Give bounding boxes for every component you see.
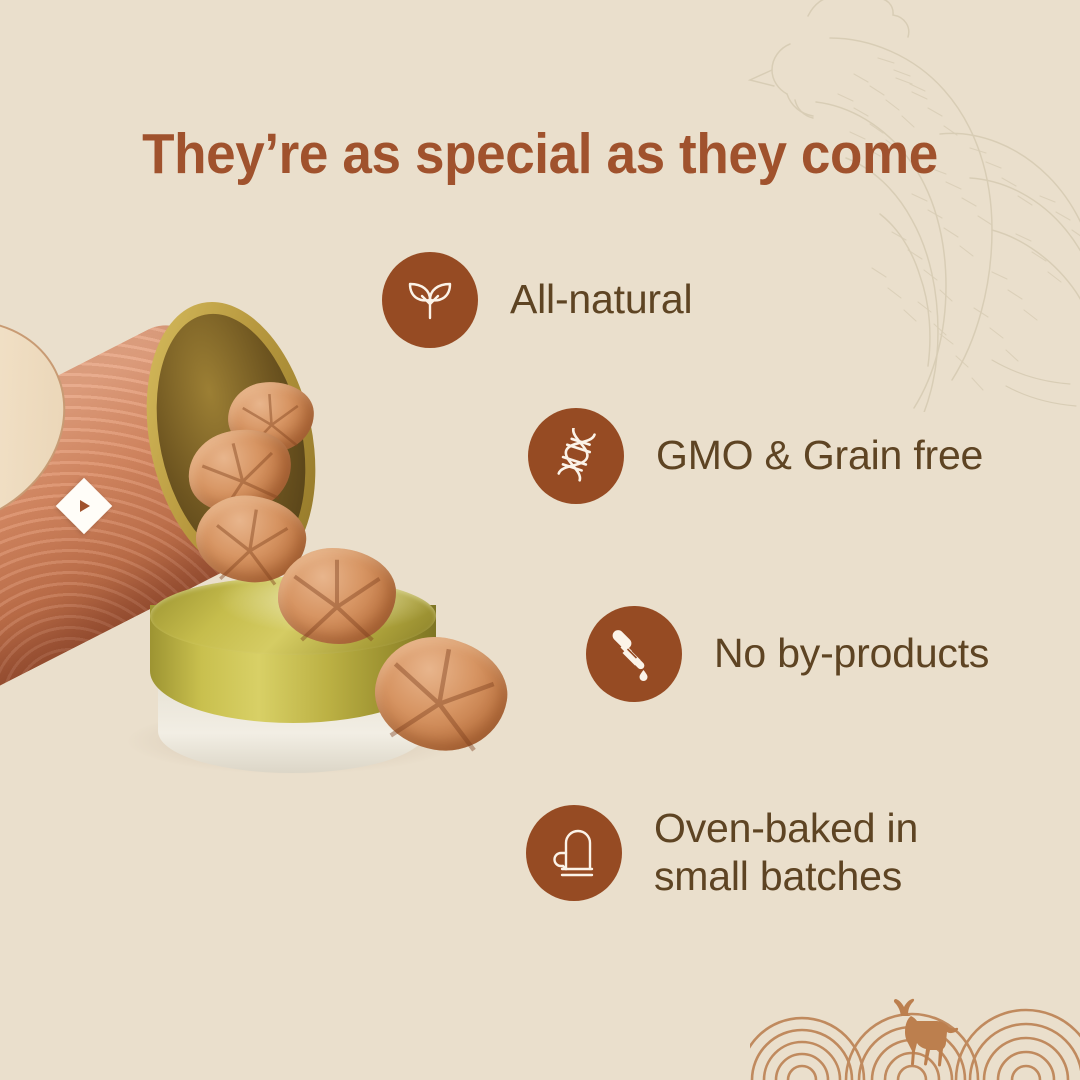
feature-icon-badge (526, 805, 622, 901)
feature-icon-badge (382, 252, 478, 348)
label-brand-text: HEADS UP FOR TAILS (0, 407, 4, 522)
page-title: They’re as special as they come (38, 126, 1042, 183)
feature-item-oven-baked: Oven-baked in small batches (526, 805, 918, 901)
goat-silhouette-icon (894, 999, 958, 1067)
feature-icon-badge (528, 408, 624, 504)
feature-item-gmo-grain-free: GMO & Grain free (528, 408, 983, 504)
hen-line-art-icon (640, 0, 1080, 412)
feature-label: All-natural (510, 276, 692, 324)
feature-label: GMO & Grain free (656, 432, 983, 480)
waves-goat-decoration (750, 940, 1080, 1080)
feature-label: Oven-baked in small batches (654, 805, 918, 900)
feature-item-all-natural: All-natural (382, 252, 692, 348)
promo-graphic: They’re as special as they come HEADS UP… (0, 0, 1080, 1080)
treat-piece (278, 548, 396, 644)
product-image: HEADS UP FOR TAILS GOAT (0, 290, 560, 810)
oven-mitt-icon (548, 825, 600, 881)
feature-item-no-by-products: No by-products (586, 606, 989, 702)
feature-label: No by-products (714, 630, 989, 678)
feature-icon-badge (586, 606, 682, 702)
dropper-pipette-icon (607, 626, 661, 682)
treat-piece (366, 627, 515, 760)
sprout-leaves-icon (404, 274, 456, 326)
dna-helix-icon (551, 428, 601, 484)
